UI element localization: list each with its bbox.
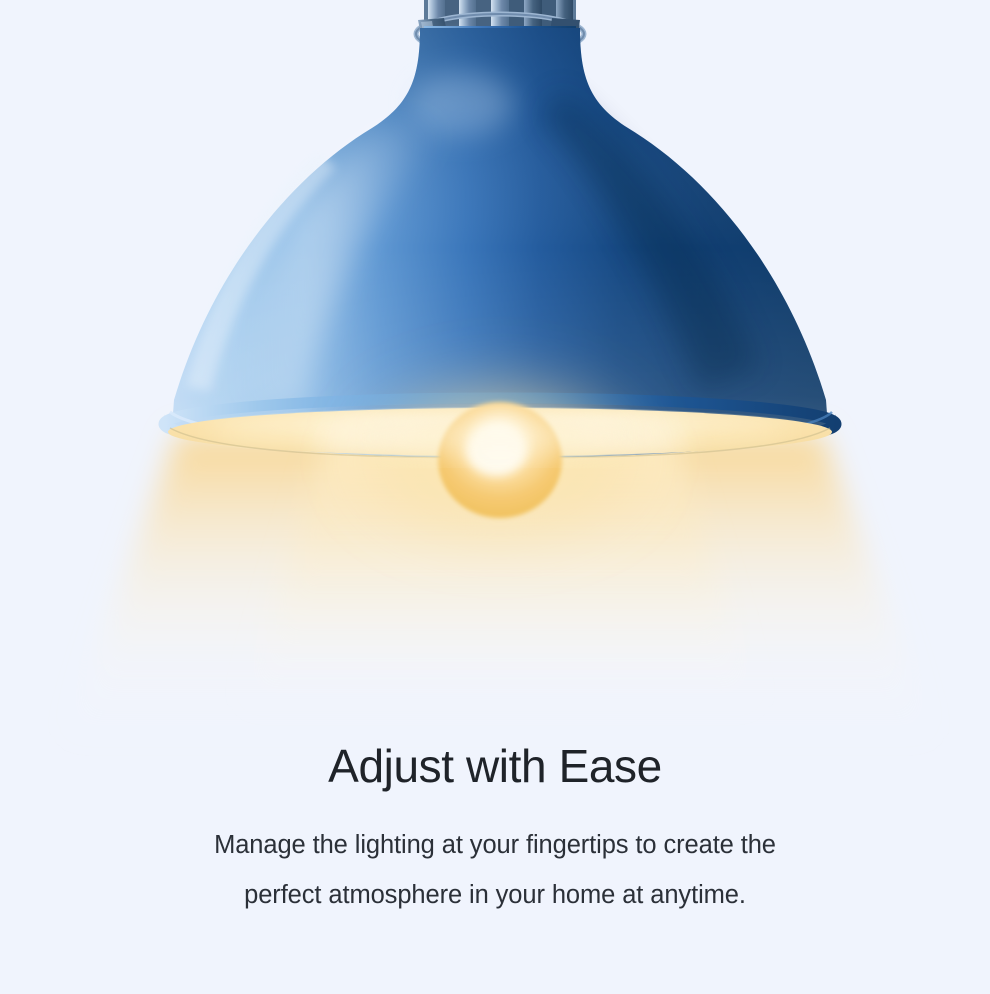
- bulb-bloom: [380, 420, 620, 452]
- caption-block: Adjust with Ease Manage the lighting at …: [0, 742, 990, 920]
- light-bulb: [340, 362, 660, 554]
- promo-card: Adjust with Ease Manage the lighting at …: [0, 0, 990, 994]
- page-subtitle-line-2: perfect atmosphere in your home at anyti…: [125, 870, 865, 920]
- page-title: Adjust with Ease: [0, 742, 990, 792]
- page-subtitle: Manage the lighting at your fingertips t…: [125, 820, 865, 920]
- page-subtitle-line-1: Manage the lighting at your fingertips t…: [125, 820, 865, 870]
- pendant-lamp-illustration: [0, 0, 990, 760]
